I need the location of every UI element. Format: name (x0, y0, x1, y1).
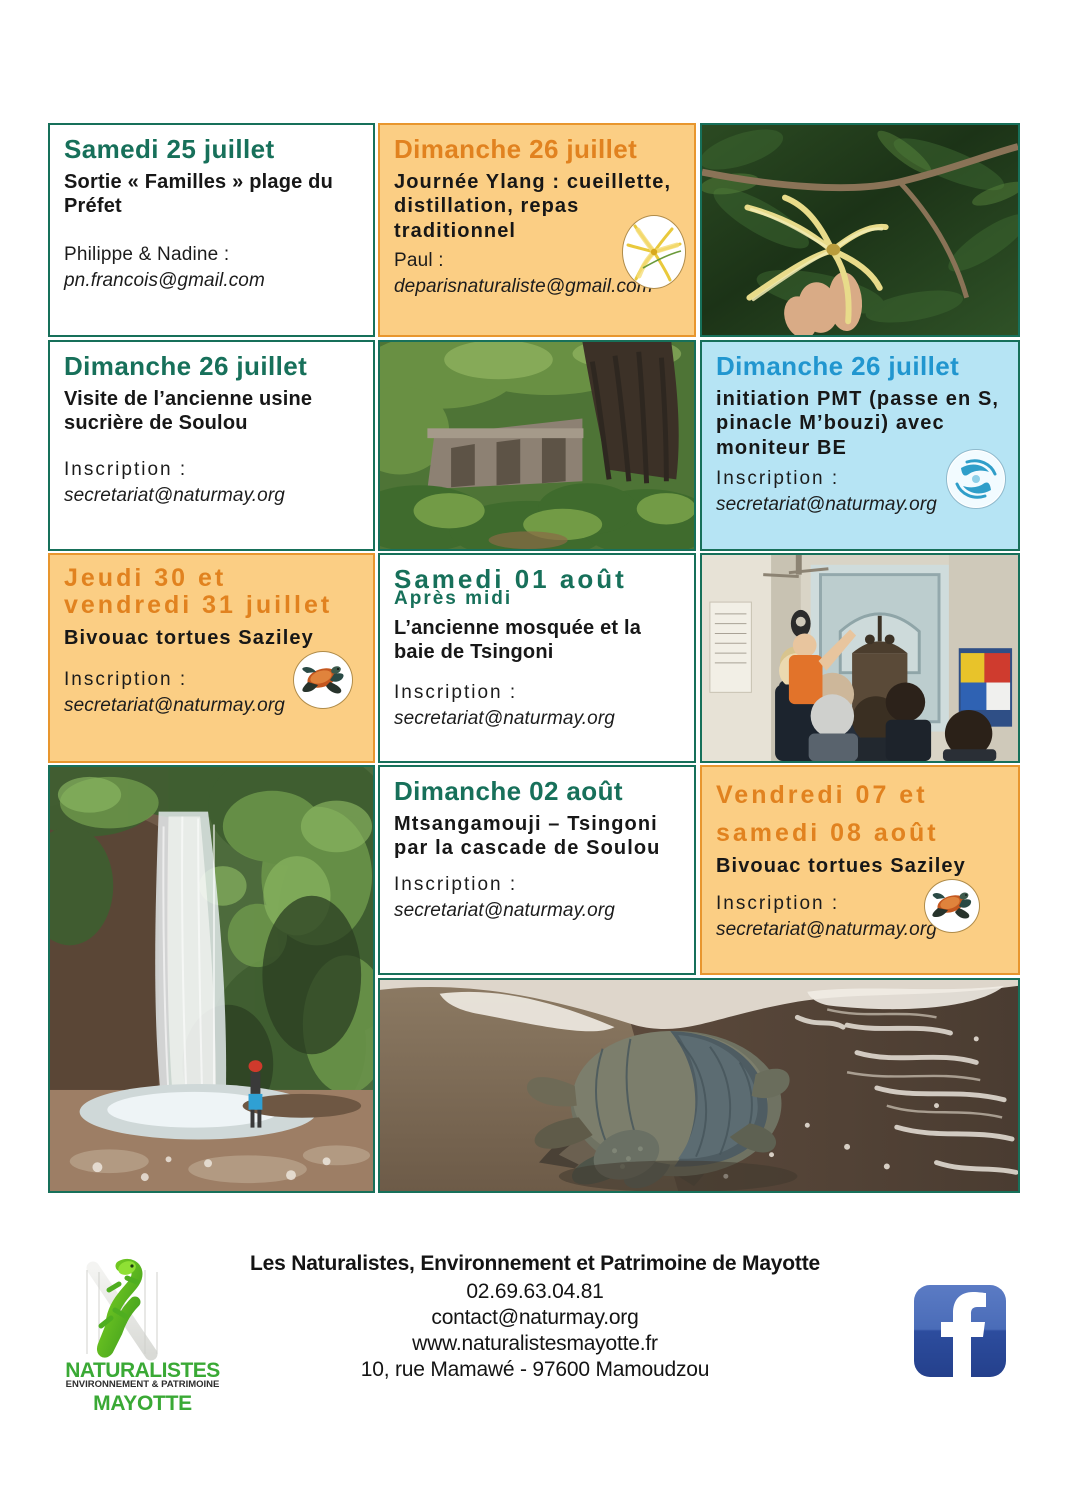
gecko-logo-icon (55, 1248, 230, 1368)
photo-ylang-flower (700, 123, 1020, 337)
photo-waterfall (48, 765, 375, 1193)
event-title: Bivouac tortues Saziley (716, 854, 1004, 878)
event-date: Dimanche 26 juillet (716, 352, 1004, 380)
logo-line-3: MAYOTTE (55, 1393, 230, 1414)
event-date: Vendredi 07 et samedi 08 août (716, 777, 1004, 852)
card-body: Dimanche 02 août Mtsangamouji – Tsingoni… (378, 765, 696, 975)
event-contact-label: Inscription : (394, 873, 680, 897)
event-card-samedi-25-juillet[interactable]: Samedi 25 juillet Sortie « Familles » pl… (48, 123, 375, 337)
event-contact-email[interactable]: secretariat@naturmay.org (64, 484, 359, 508)
card-body: Samedi 01 août Après midi L’ancienne mos… (378, 553, 696, 763)
contact-email[interactable]: contact@naturmay.org (190, 1306, 880, 1330)
event-title: initiation PMT (passe en S, pinacle M’bo… (716, 387, 1004, 460)
event-contact-label: Inscription : (394, 681, 680, 705)
website-url[interactable]: www.naturalistesmayotte.fr (190, 1332, 880, 1356)
event-title: Visite de l’ancienne usine sucrière de S… (64, 387, 359, 436)
event-contact-label: Inscription : (64, 458, 359, 482)
sea-turtle-icon (293, 651, 353, 709)
event-title: L’ancienne mosquée et la baie de Tsingon… (394, 616, 680, 665)
photo-image (702, 555, 1018, 761)
events-grid: Samedi 25 juillet Sortie « Familles » pl… (48, 123, 1020, 1193)
event-contact-label: Philippe & Nadine : (64, 243, 359, 267)
photo-frame (378, 340, 696, 551)
event-date: Samedi 25 juillet (64, 135, 359, 163)
card-body: Dimanche 26 juillet initiation PMT (pass… (700, 340, 1020, 551)
event-contact-email[interactable]: pn.francois@gmail.com (64, 269, 359, 293)
photo-sea-turtle (378, 978, 1020, 1193)
event-date: Jeudi 30 et vendredi 31 juillet (64, 565, 359, 619)
photo-image (50, 767, 373, 1191)
ylang-flower-icon (622, 215, 686, 289)
postal-address: 10, rue Mamawé - 97600 Mamoudzou (190, 1358, 880, 1382)
organization-name: Les Naturalistes, Environnement et Patri… (190, 1252, 880, 1276)
event-contact-email[interactable]: secretariat@naturmay.org (394, 707, 680, 731)
photo-frame (700, 123, 1020, 337)
photo-image (380, 342, 694, 549)
event-card-dimanche-02-aout[interactable]: Dimanche 02 août Mtsangamouji – Tsingoni… (378, 765, 696, 975)
card-body: Vendredi 07 et samedi 08 août Bivouac to… (700, 765, 1020, 975)
logo-line-2: ENVIRONNEMENT & PATRIMOINE (55, 1380, 230, 1390)
photo-image (702, 125, 1018, 335)
event-card-vendredi-07-samedi-08-aout[interactable]: Vendredi 07 et samedi 08 août Bivouac to… (700, 765, 1020, 975)
logo-line-1: NATURALISTES (55, 1360, 230, 1381)
phone-number: 02.69.63.04.81 (190, 1280, 880, 1304)
photo-frame (378, 978, 1020, 1193)
card-body: Dimanche 26 juillet Visite de l’ancienne… (48, 340, 375, 551)
sea-turtle-icon (924, 879, 980, 933)
event-title: Mtsangamouji – Tsingoni par la cascade d… (394, 812, 680, 861)
event-date: Dimanche 26 juillet (394, 135, 680, 163)
event-date: Dimanche 02 août (394, 777, 680, 805)
facebook-icon[interactable] (908, 1279, 1012, 1383)
event-card-dimanche-26-juillet-ylang[interactable]: Dimanche 26 juillet Journée Ylang : cuei… (378, 123, 696, 337)
event-date: Dimanche 26 juillet (64, 352, 359, 380)
event-card-dimanche-26-juillet-soulou[interactable]: Dimanche 26 juillet Visite de l’ancienne… (48, 340, 375, 551)
footer-contact-block: Les Naturalistes, Environnement et Patri… (190, 1252, 880, 1384)
photo-soulou-ruins (378, 340, 696, 551)
card-body: Jeudi 30 et vendredi 31 juillet Bivouac … (48, 553, 375, 763)
event-title: Sortie « Familles » plage du Préfet (64, 170, 359, 219)
photo-mosque-visit (700, 553, 1020, 763)
event-card-jeudi-30-vendredi-31-juillet[interactable]: Jeudi 30 et vendredi 31 juillet Bivouac … (48, 553, 375, 763)
dolphins-icon (946, 449, 1006, 509)
card-body: Dimanche 26 juillet Journée Ylang : cuei… (378, 123, 696, 337)
photo-frame (48, 765, 375, 1193)
event-card-samedi-01-aout[interactable]: Samedi 01 août Après midi L’ancienne mos… (378, 553, 696, 763)
event-contact-email[interactable]: secretariat@naturmay.org (394, 899, 680, 923)
photo-image (380, 980, 1018, 1191)
naturalistes-mayotte-logo: NATURALISTES ENVIRONNEMENT & PATRIMOINE … (55, 1248, 230, 1420)
event-title: Bivouac tortues Saziley (64, 626, 359, 650)
poster-page: Samedi 25 juillet Sortie « Familles » pl… (0, 0, 1068, 1511)
photo-frame (700, 553, 1020, 763)
card-body: Samedi 25 juillet Sortie « Familles » pl… (48, 123, 375, 337)
event-card-dimanche-26-juillet-pmt[interactable]: Dimanche 26 juillet initiation PMT (pass… (700, 340, 1020, 551)
